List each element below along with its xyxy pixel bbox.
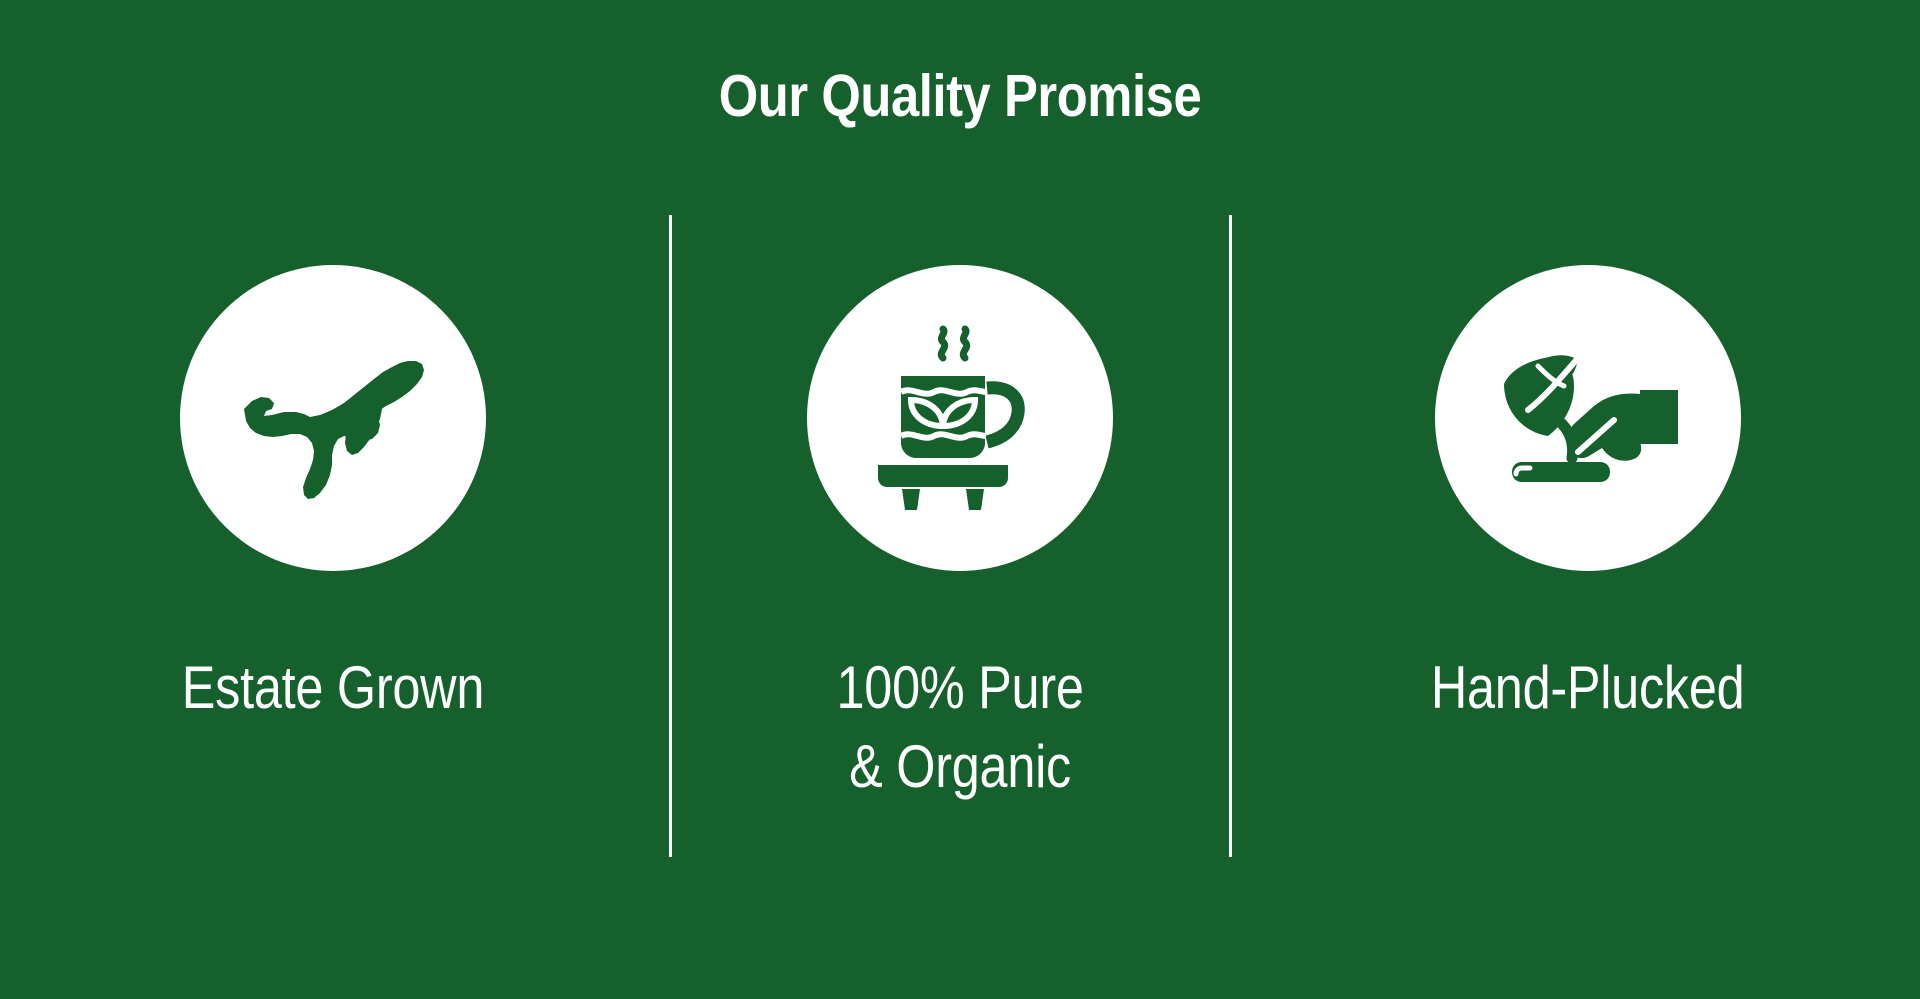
feature-item-pure-organic[interactable]: 100% Pure & Organic bbox=[750, 265, 1170, 806]
feature-label-pure-organic: 100% Pure & Organic bbox=[836, 648, 1083, 806]
feature-item-estate-grown[interactable]: Estate Grown bbox=[123, 265, 543, 727]
feature-label-estate-grown: Estate Grown bbox=[182, 648, 484, 727]
feature-label-line: 100% Pure bbox=[836, 648, 1083, 727]
feature-columns: Estate Grown bbox=[0, 0, 1920, 999]
icon-circle-pure-organic bbox=[807, 265, 1113, 571]
feature-label-line: Hand-Plucked bbox=[1431, 648, 1745, 727]
quality-promise-banner: Our Quality Promise Estate Grown bbox=[0, 0, 1920, 999]
column-divider-1 bbox=[669, 215, 672, 857]
feature-label-line: Estate Grown bbox=[182, 648, 484, 727]
hand-plucking-leaf-icon bbox=[1482, 312, 1694, 524]
icon-circle-estate-grown bbox=[180, 265, 486, 571]
column-divider-2 bbox=[1229, 215, 1232, 857]
icon-circle-hand-plucked bbox=[1435, 265, 1741, 571]
feature-label-line: & Organic bbox=[836, 727, 1083, 806]
region-map-icon bbox=[228, 313, 438, 523]
feature-label-hand-plucked: Hand-Plucked bbox=[1431, 648, 1745, 727]
tea-cup-icon bbox=[860, 318, 1060, 518]
feature-item-hand-plucked[interactable]: Hand-Plucked bbox=[1378, 265, 1798, 727]
